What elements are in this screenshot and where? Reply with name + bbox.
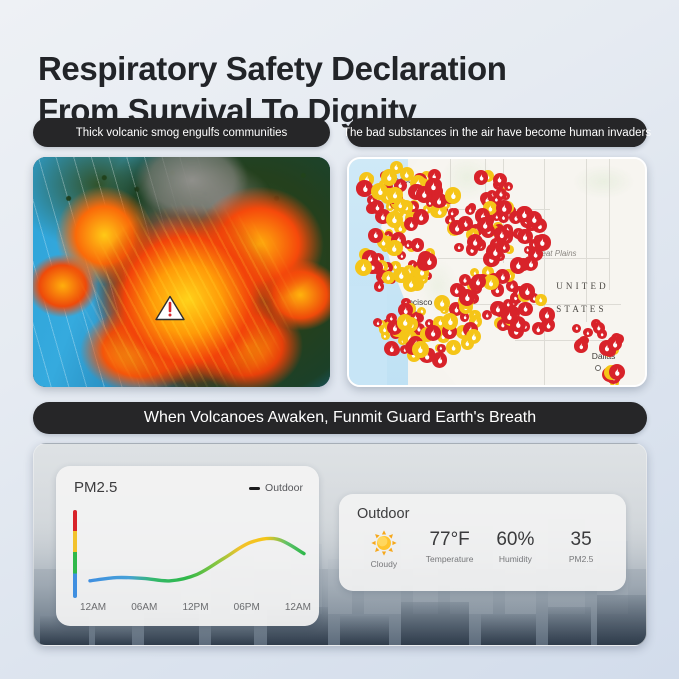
caption-pill-left-label: Thick volcanic smog engulfs communities	[76, 127, 288, 139]
chart-x-tick: 12AM	[80, 602, 106, 613]
caption-pill-middle: When Volcanoes Awaken, Funmit Guard Eart…	[33, 402, 647, 434]
fire-flame-icon	[517, 229, 533, 245]
fire-flame-icon	[386, 240, 402, 256]
poster-root: Respiratory Safety Declaration From Surv…	[0, 0, 679, 679]
outdoor-metric-temperature: 77°FTemperature	[417, 530, 483, 569]
chart-legend-label: Outdoor	[265, 482, 303, 494]
legend-dash-icon	[249, 487, 260, 490]
outdoor-metric-value: 35	[571, 530, 592, 551]
fire-flame-icon	[393, 267, 409, 283]
fire-flame-icon	[371, 183, 388, 200]
fire-flame-icon	[516, 206, 533, 223]
fire-flame-icon	[495, 188, 507, 200]
fire-flame-icon	[421, 253, 438, 270]
fire-flame-icon	[493, 173, 507, 187]
wildfire-map-panel: VancouverGreat PlainsUNITEDSTATESDallasn…	[347, 157, 647, 387]
map-city-dot	[595, 365, 601, 371]
caption-pill-right: The bad substances in the air have becom…	[347, 118, 647, 147]
outdoor-metric-cloudy: Cloudy	[351, 530, 417, 569]
outdoor-metric-pm2-5: 35PM2.5	[548, 530, 614, 569]
caption-pill-left: Thick volcanic smog engulfs communities	[33, 118, 330, 147]
fire-flame-icon	[518, 302, 532, 316]
photo-flame-flicker	[33, 157, 330, 387]
fire-flame-icon	[574, 339, 587, 352]
chart-x-tick: 06PM	[234, 602, 260, 613]
map-canvas: VancouverGreat PlainsUNITEDSTATESDallasn…	[349, 159, 645, 385]
fire-flame-icon	[510, 257, 527, 274]
fire-flame-icon	[465, 205, 475, 215]
fire-flame-icon	[445, 187, 462, 204]
fire-flame-icon	[593, 322, 605, 334]
air-quality-scale-bar	[73, 510, 77, 598]
outdoor-metric-label: Humidity	[499, 554, 532, 564]
fire-flame-icon	[539, 307, 555, 323]
fire-flame-icon	[486, 243, 503, 260]
chart-legend: Outdoor	[249, 482, 303, 494]
outdoor-metric-humidity: 60%Humidity	[483, 530, 549, 569]
outdoor-metrics-row: Cloudy77°FTemperature60%Humidity35PM2.5	[351, 530, 614, 569]
chart-title: PM2.5	[74, 479, 117, 496]
fire-flame-icon	[442, 313, 459, 330]
map-label-united: UNITED	[556, 281, 609, 291]
outdoor-card-title: Outdoor	[357, 506, 409, 522]
wildfire-photo-content	[33, 157, 330, 387]
chart-x-tick: 06AM	[131, 602, 157, 613]
fire-flame-icon	[572, 324, 581, 333]
fire-flame-icon	[459, 289, 476, 306]
caption-pill-right-label: The bad substances in the air have becom…	[343, 127, 651, 139]
fire-flame-icon	[425, 178, 442, 195]
fire-flame-icon	[355, 259, 372, 276]
chart-x-tick: 12PM	[182, 602, 208, 613]
sun-icon	[371, 530, 397, 556]
fire-flame-icon	[387, 187, 403, 203]
outdoor-metric-label: Temperature	[426, 554, 474, 564]
outdoor-metric-value: 77°F	[429, 530, 469, 551]
outdoor-metric-label: PM2.5	[569, 554, 594, 564]
pm25-chart-card: PM2.5 Outdoor	[56, 466, 319, 626]
caption-pill-middle-label: When Volcanoes Awaken, Funmit Guard Eart…	[144, 409, 536, 427]
fire-flame-icon	[368, 228, 383, 243]
outdoor-metric-label: Cloudy	[371, 559, 397, 569]
fire-flame-icon	[467, 234, 483, 250]
wildfire-photo	[33, 157, 330, 387]
dashboard-panel: PM2.5 Outdoor	[33, 443, 647, 646]
fire-flame-icon	[412, 341, 429, 358]
title-line-1: Respiratory Safety Declaration	[38, 50, 507, 87]
fire-flame-icon	[474, 170, 488, 184]
chart-x-axis: 12AM06AM12PM06PM12AM	[80, 602, 311, 613]
chart-x-tick: 12AM	[285, 602, 311, 613]
outdoor-metrics-card: Outdoor Cloudy77°FTemperature60%Humidity…	[339, 494, 626, 591]
map-label-states: STATES	[556, 304, 607, 314]
chart-plot-area	[84, 506, 310, 598]
fire-flame-icon	[535, 294, 547, 306]
fire-flame-icon	[454, 243, 464, 253]
fire-flame-icon	[446, 340, 460, 354]
fire-flame-icon	[397, 314, 413, 330]
fire-flame-icon	[425, 325, 441, 341]
outdoor-metric-value: 60%	[496, 530, 534, 551]
fire-flame-icon	[534, 234, 550, 250]
warning-triangle-icon	[155, 295, 185, 321]
